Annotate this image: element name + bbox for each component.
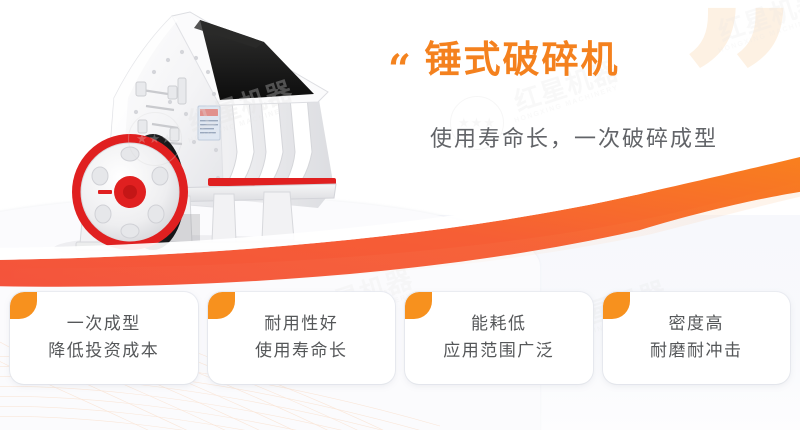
feature-card[interactable]: 密度高 耐磨耐冲击: [603, 292, 791, 384]
feature-card-line1: 能耗低: [471, 311, 527, 338]
feature-card[interactable]: 一次成型 降低投资成本: [10, 292, 198, 384]
corner-accent-icon: [10, 292, 37, 319]
page-title: 锤式破碎机: [424, 40, 619, 81]
corner-accent-icon: [405, 292, 432, 319]
feature-card-line1: 耐用性好: [264, 311, 338, 338]
feature-card-line1: 一次成型: [67, 311, 141, 338]
product-image: [18, 2, 348, 272]
corner-accent-icon: [208, 292, 235, 319]
hammer-crusher-illustration: [18, 2, 348, 272]
open-quote-icon: “: [388, 46, 410, 93]
feature-card-line2: 耐磨耐冲击: [650, 338, 743, 365]
page-subtitle: 使用寿命长，一次破碎成型: [430, 121, 718, 153]
headline-block: “ 锤式破碎机: [388, 40, 788, 93]
feature-card[interactable]: 能耗低 应用范围广泛: [405, 292, 593, 384]
feature-card[interactable]: 耐用性好 使用寿命长: [208, 292, 396, 384]
banner-stage: ”: [0, 0, 800, 430]
corner-accent-icon: [603, 292, 630, 319]
feature-card-line2: 降低投资成本: [48, 338, 159, 365]
feature-card-line2: 应用范围广泛: [443, 338, 554, 365]
feature-card-list: 一次成型 降低投资成本 耐用性好 使用寿命长 能耗低 应用范围广泛 密度高 耐磨…: [10, 292, 790, 384]
feature-card-line2: 使用寿命长: [255, 338, 348, 365]
feature-card-line1: 密度高: [669, 311, 725, 338]
